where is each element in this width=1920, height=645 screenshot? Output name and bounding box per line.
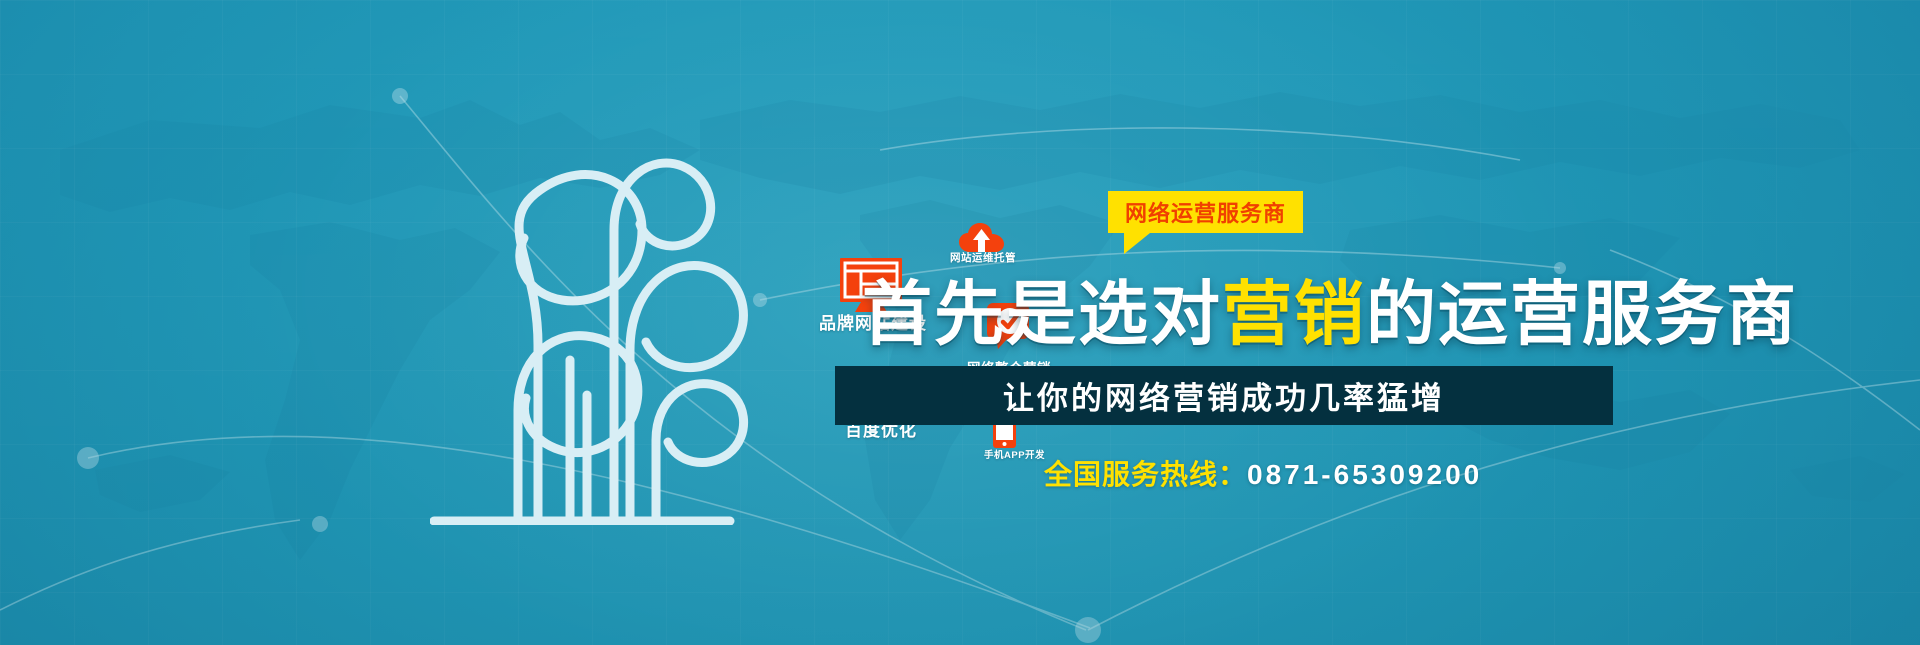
- category-tag-label: 网络运营服务商: [1108, 191, 1303, 233]
- headline-before: 首先是选对: [862, 275, 1222, 353]
- promo-banner: 品牌网站建设 百度优化 网站运维托管 网络整合营销 手机APP开发: [0, 0, 1920, 645]
- headline-highlight: 营销: [1222, 275, 1366, 353]
- page-title: 首先是选对营销的运营服务商: [862, 258, 1798, 359]
- headline-after: 的运营服务商: [1366, 275, 1798, 353]
- subtitle-bar-text: 让你的网络营销成功几率猛增: [1003, 373, 1445, 418]
- tree-node-label-app-dev: 手机APP开发: [984, 447, 1045, 461]
- cloud-upload-icon: [959, 223, 1004, 253]
- category-tag: 网络运营服务商: [1108, 191, 1303, 233]
- hotline-label: 全国服务热线：: [1044, 459, 1247, 490]
- service-tree-graphic: 品牌网站建设 百度优化 网站运维托管 网络整合营销 手机APP开发: [430, 110, 760, 525]
- hotline: 全国服务热线：0871-65309200: [1044, 453, 1482, 493]
- category-tag-tail: [1124, 233, 1150, 254]
- subtitle-bar: 让你的网络营销成功几率猛增: [835, 366, 1613, 425]
- hotline-number: 0871-65309200: [1247, 459, 1482, 490]
